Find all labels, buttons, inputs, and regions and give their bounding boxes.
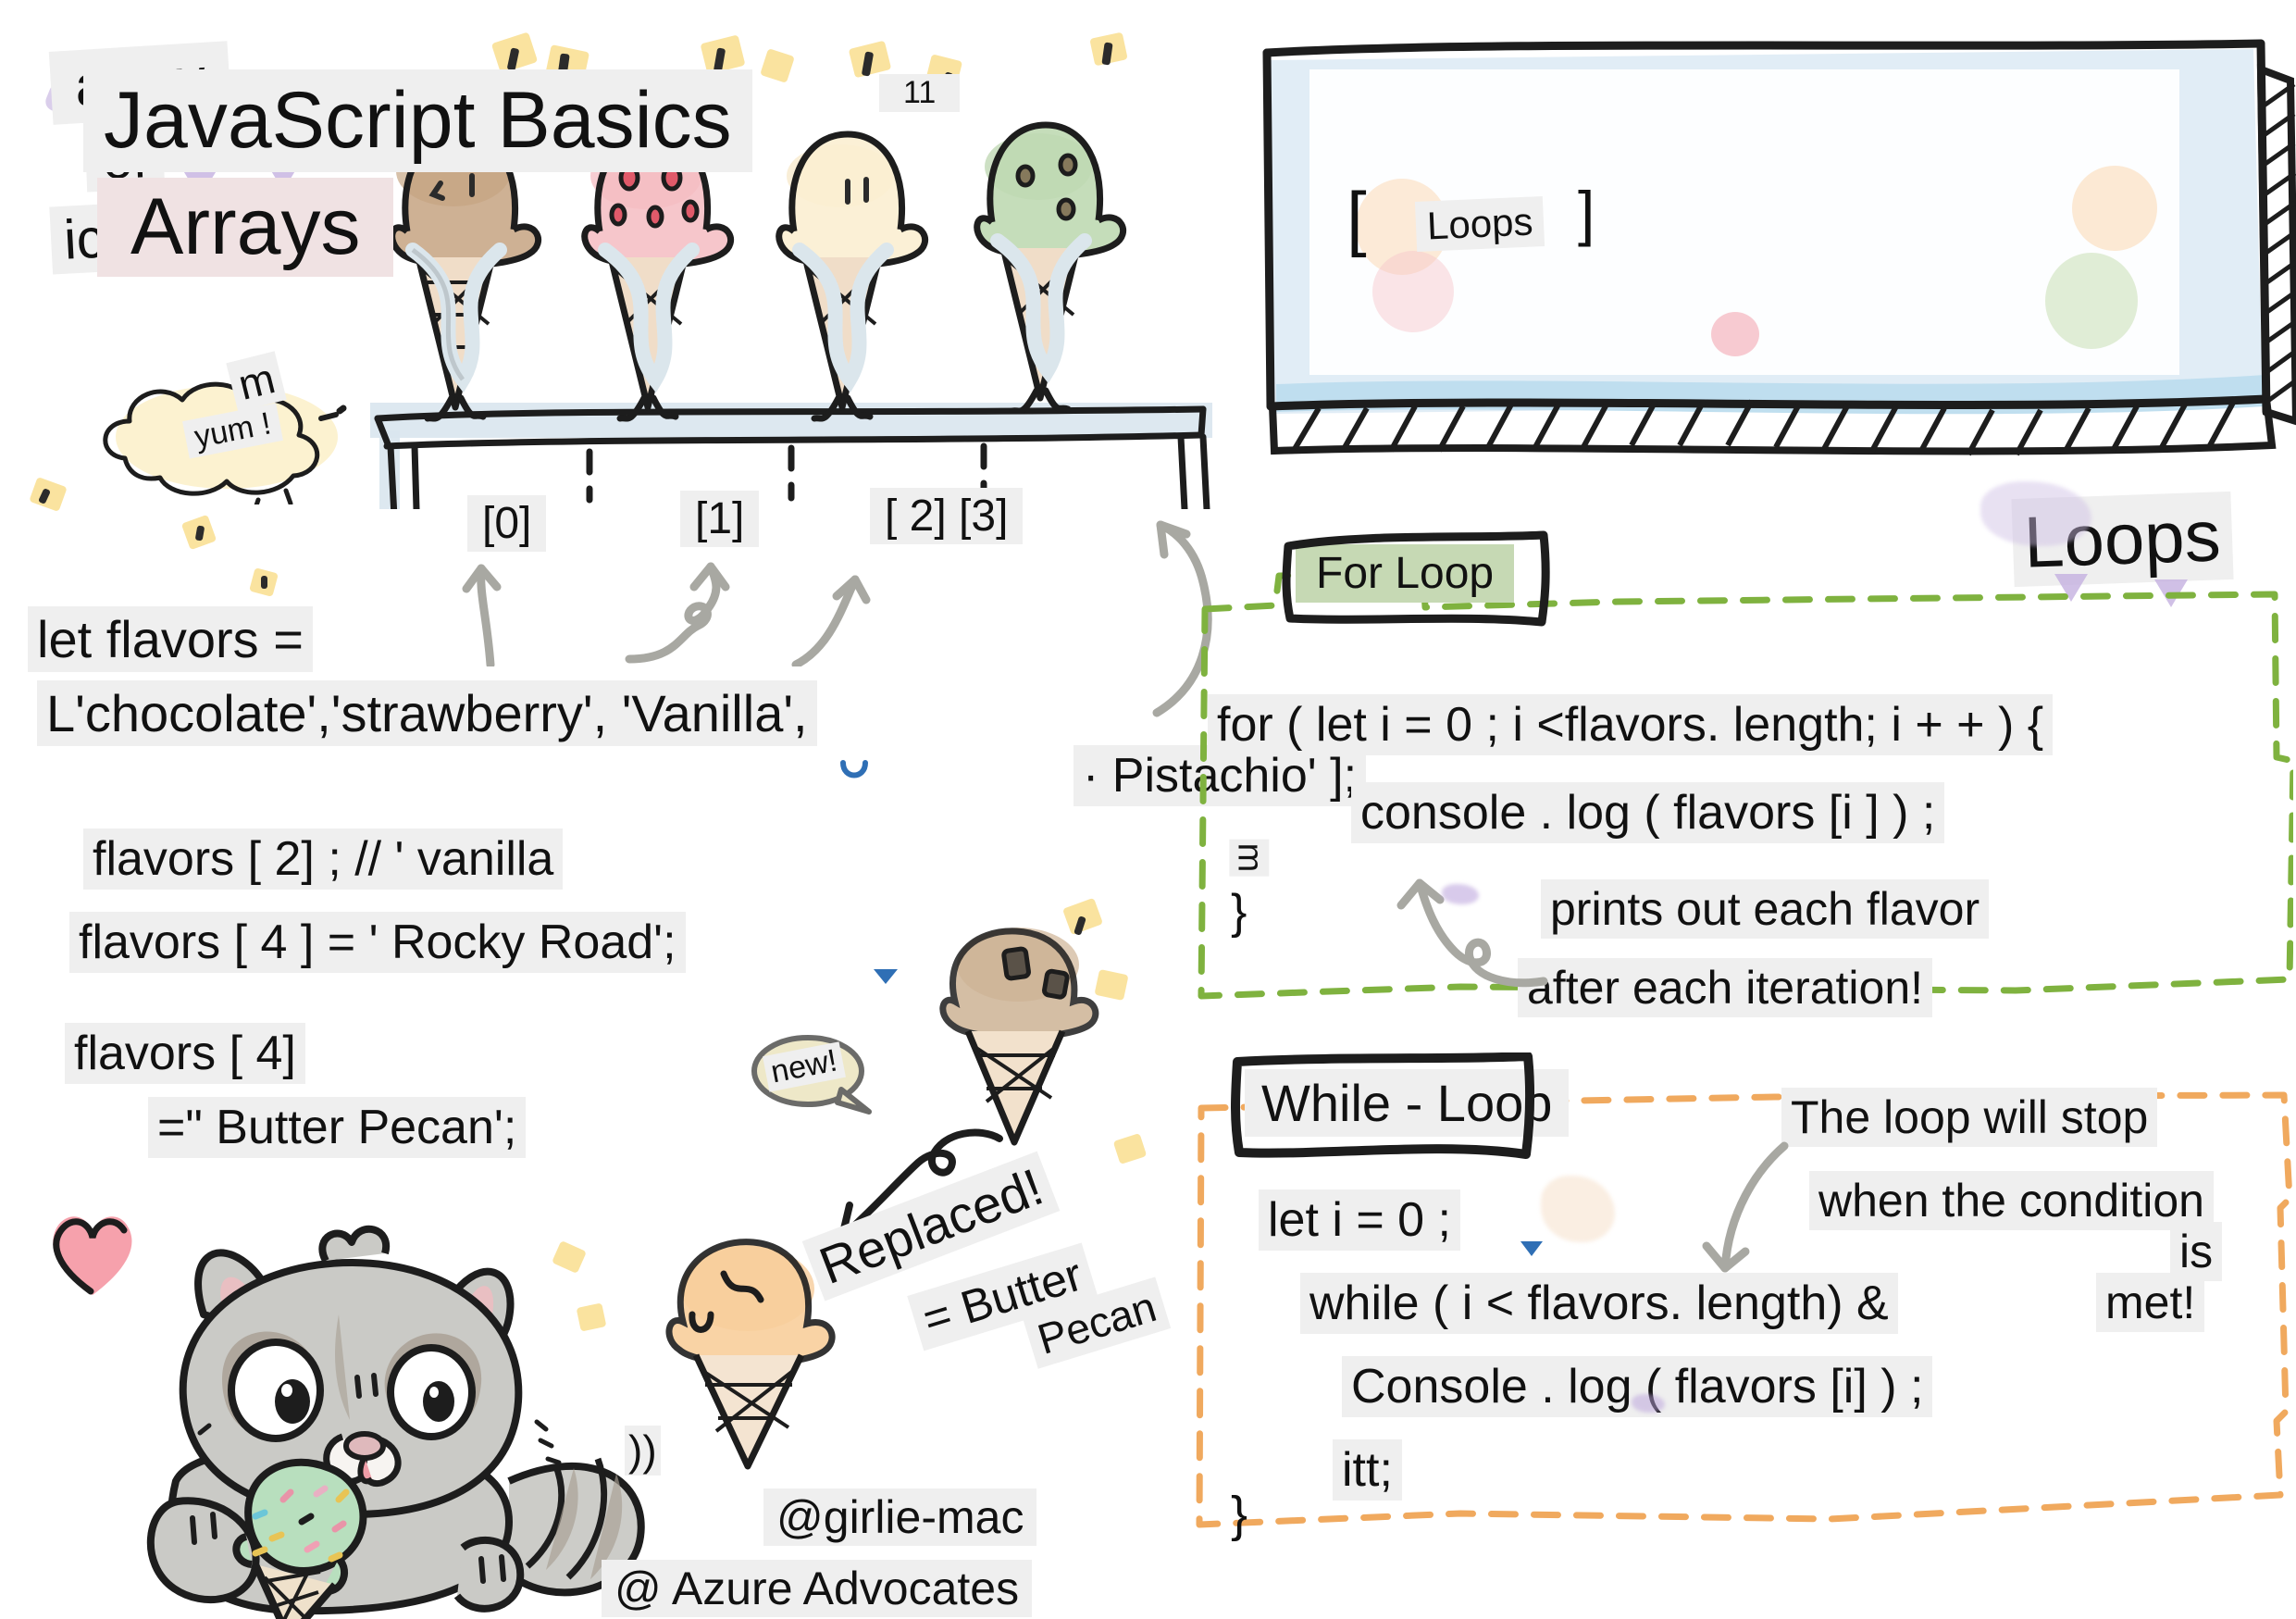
purple-wash-decoration (1442, 884, 1479, 904)
code-line-butter-pecan: =" Butter Pecan'; (148, 1097, 526, 1158)
blue-scribble-mark (838, 759, 875, 787)
code-line-flavors-2: flavors [ 2] ; // ' vanilla (83, 828, 563, 890)
credit-handle: @girlie-mac (763, 1488, 1036, 1546)
for-loop-tag: For Loop (1296, 544, 1514, 603)
for-loop-code-line-1: for ( let i = 0 ; i <flavors. length; i … (1208, 694, 2053, 755)
credit-org: @ Azure Advocates (602, 1560, 1032, 1617)
code-line-array-literal: L'chocolate','strawberry', 'Vanilla', (37, 680, 817, 746)
bracket-close: ] (1578, 178, 1595, 248)
while-loop-note-line-4: met! (2096, 1273, 2204, 1332)
purple-wash-decoration (1980, 481, 2091, 546)
for-loop-note-line-2: after each iteration! (1518, 958, 1932, 1017)
for-loop-code-line-2: console . log ( flavors [i ] ) ; (1351, 782, 1944, 843)
whiteboard-frame (1254, 32, 2296, 458)
rocky-road-cone-illustration (916, 916, 1129, 1148)
confetti-piece (760, 48, 795, 83)
while-loop-note-arrow (1684, 1139, 1814, 1305)
whiteboard-subtitle: Arrays (97, 178, 393, 277)
array-index-1: [1] (680, 491, 759, 547)
confetti-mark (261, 576, 267, 589)
for-loop-brace-mark: m (1229, 840, 1269, 877)
bracket-open: [ (1347, 176, 1367, 260)
while-loop-tag: While - Loop (1245, 1069, 1569, 1137)
raccoon-illustration (74, 1203, 666, 1619)
blue-scribble-mark (870, 965, 903, 990)
while-loop-note-line-2: when the condition (1809, 1171, 2214, 1230)
while-loop-closing-brace: } (1231, 1486, 1247, 1543)
new-speech-bubble: new! (745, 1032, 875, 1106)
code-line-flavors-4-rocky-road: flavors [ 4 ] = ' Rocky Road'; (69, 912, 686, 973)
for-loop-note-line-1: prints out each flavor (1541, 879, 1989, 939)
purple-wash-decoration (1632, 1394, 1665, 1413)
while-loop-code-line-4: itt; (1333, 1439, 1402, 1501)
code-line-let-flavors: let flavors = (28, 606, 313, 672)
array-index-2-3: [ 2] [3] (870, 488, 1023, 544)
while-loop-note-line-1: The loop will stop (1781, 1088, 2157, 1147)
yum-speech-cloud: m yum ! (88, 370, 366, 504)
whiteboard-loops-tag: Loops (1415, 196, 1545, 252)
whiteboard-title: JavaScript Basics (83, 69, 752, 172)
for-loop-closing-brace: } (1231, 884, 1247, 940)
array-index-0: [0] (467, 495, 546, 552)
code-line-flavors-4: flavors [ 4] (65, 1023, 305, 1084)
while-loop-tag-border (1226, 1052, 1541, 1164)
for-loop-tag-border (1279, 529, 1557, 631)
while-loop-code-line-1: let i = 0 ; (1259, 1189, 1460, 1251)
